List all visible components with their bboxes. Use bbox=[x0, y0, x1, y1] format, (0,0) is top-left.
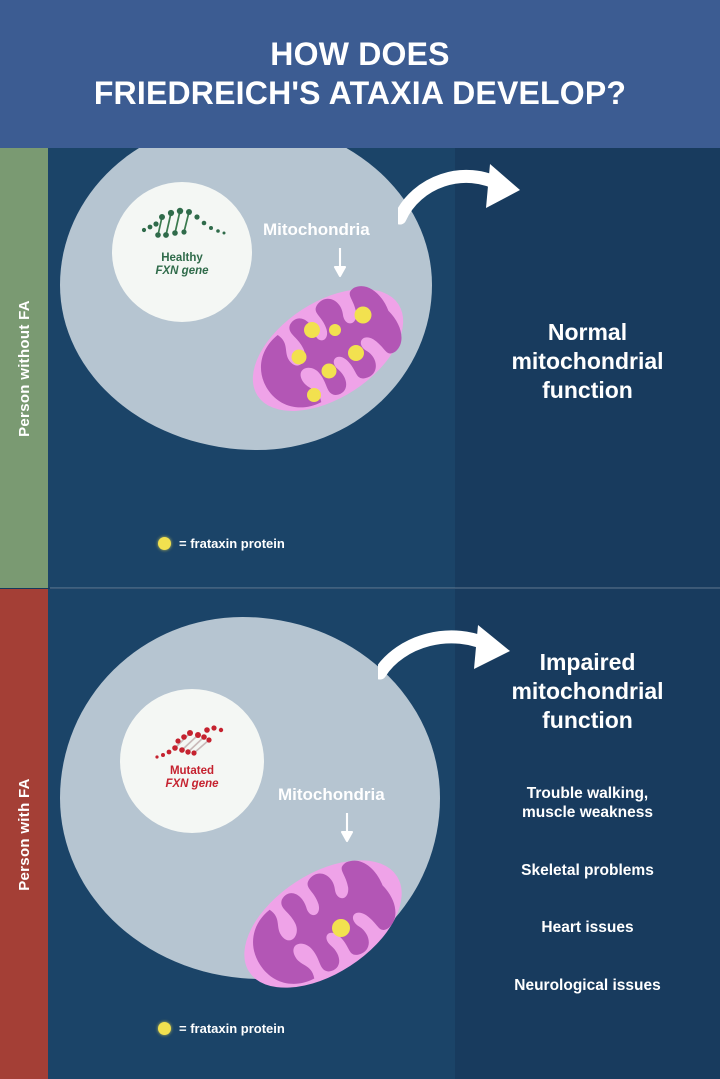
symptom-list: Trouble walking, muscle weakness Skeleta… bbox=[455, 784, 720, 995]
mitochondrion-healthy bbox=[238, 270, 418, 430]
symptom-item: Neurological issues bbox=[455, 976, 720, 995]
symptom-item: Skeletal problems bbox=[455, 861, 720, 880]
dna-helix-red-icon bbox=[144, 717, 240, 761]
panel-person-without-fa: Person without FA Normal mitochondrial f… bbox=[0, 148, 720, 588]
gene-label-line1: Healthy bbox=[155, 252, 208, 265]
stage-healthy: Normal mitochondrial function bbox=[48, 148, 720, 588]
gene-label-line1: Mutated bbox=[165, 765, 218, 778]
stage-fa: Impaired mitochondrial function Trouble … bbox=[48, 589, 720, 1079]
nucleus-fa: Mutated FXN gene bbox=[120, 689, 264, 833]
page-title: HOW DOES FRIEDREICH'S ATAXIA DEVELOP? bbox=[84, 35, 636, 113]
symptom-item: Trouble walking, muscle weakness bbox=[455, 784, 720, 823]
sidebar-label-without-fa: Person without FA bbox=[16, 300, 33, 437]
headline-normal-function: Normal mitochondrial function bbox=[455, 318, 720, 405]
curved-arrow-right-icon-healthy bbox=[398, 156, 538, 236]
legend-text-healthy: = frataxin protein bbox=[179, 536, 285, 551]
header-banner: HOW DOES FRIEDREICH'S ATAXIA DEVELOP? bbox=[0, 0, 720, 148]
gene-label-healthy: Healthy FXN gene bbox=[155, 252, 208, 279]
cell-healthy: Healthy FXN gene Mitochondria bbox=[60, 148, 432, 450]
frataxin-dot-icon bbox=[158, 1022, 171, 1035]
gene-label-fa: Mutated FXN gene bbox=[165, 765, 218, 792]
frataxin-dot-icon bbox=[158, 537, 171, 550]
curved-arrow-right-icon-fa bbox=[378, 617, 528, 697]
mitochondrion-fa bbox=[228, 839, 418, 1009]
frataxin-dots-fa bbox=[332, 919, 350, 937]
mitochondria-label-fa: Mitochondria bbox=[278, 785, 385, 805]
gene-label-line2: FXN gene bbox=[155, 265, 208, 278]
panel-person-with-fa: Person with FA Impaired mitochondrial fu… bbox=[0, 589, 720, 1079]
sidebar-person-without-fa: Person without FA bbox=[0, 148, 48, 588]
legend-healthy: = frataxin protein bbox=[158, 536, 285, 551]
sidebar-label-with-fa: Person with FA bbox=[16, 778, 33, 891]
gene-label-line2: FXN gene bbox=[165, 778, 218, 791]
panel-divider bbox=[50, 587, 720, 589]
infographic-root: HOW DOES FRIEDREICH'S ATAXIA DEVELOP? Pe… bbox=[0, 0, 720, 1079]
sidebar-person-with-fa: Person with FA bbox=[0, 589, 48, 1079]
symptom-item: Heart issues bbox=[455, 918, 720, 937]
dna-helix-green-icon bbox=[134, 204, 230, 248]
nucleus-healthy: Healthy FXN gene bbox=[112, 182, 252, 322]
legend-fa: = frataxin protein bbox=[158, 1021, 285, 1036]
mitochondria-label-healthy: Mitochondria bbox=[263, 220, 370, 240]
legend-text-fa: = frataxin protein bbox=[179, 1021, 285, 1036]
